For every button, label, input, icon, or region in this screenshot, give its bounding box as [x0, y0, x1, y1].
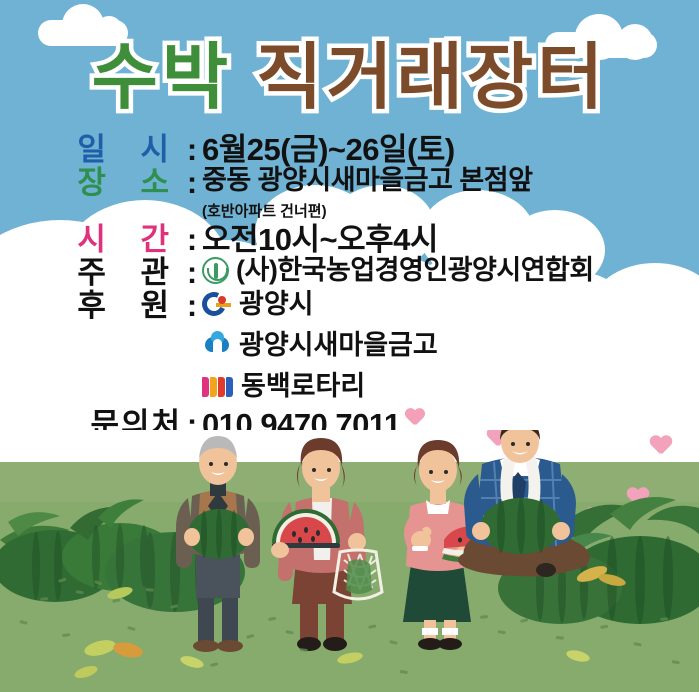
- title-part-market: 직거래장터: [232, 38, 607, 118]
- dongbaek-rotary-logo-icon: [202, 371, 234, 397]
- sponsor-item-1: 광양시새마을금고: [202, 323, 699, 362]
- value-time: 오전10시~오후4시: [202, 224, 438, 255]
- korea-farmers-emblem-icon: [202, 257, 229, 284]
- value-place-note: (호반아파트 건너편): [202, 200, 699, 221]
- label-sponsor: 후 원: [0, 290, 182, 321]
- label-date: 일 시: [0, 134, 182, 165]
- value-host: (사)한국농업경영인광양시연합회: [236, 257, 594, 284]
- sponsor-name-0: 광양시: [239, 291, 314, 318]
- person-woman-net-bag: [271, 438, 382, 651]
- colon-host: :: [182, 257, 202, 288]
- poster-title: 수박 직거래장터: [0, 42, 699, 114]
- row-place: 장 소 : 중동 광양시새마을금고 본점앞: [0, 167, 699, 198]
- title-part-watermelon: 수박: [92, 38, 232, 118]
- colon-date: :: [182, 134, 202, 165]
- row-date: 일 시 : 6월25(금)~26일(토): [0, 134, 699, 165]
- sponsor-name-1: 광양시새마을금고: [239, 323, 438, 362]
- gwangyang-city-logo-icon: [202, 290, 232, 318]
- label-host: 주 관: [0, 257, 182, 288]
- row-sponsor: 후 원 : 광양시: [0, 290, 699, 321]
- label-place: 장 소: [0, 167, 182, 198]
- illustration-watermelon-field: [0, 430, 699, 692]
- heart-icon: [405, 409, 425, 427]
- saemaul-geumgo-logo-icon: [202, 330, 232, 356]
- colon-time: :: [182, 224, 202, 255]
- value-date: 6월25(금)~26일(토): [202, 134, 455, 165]
- label-time: 시 간: [0, 224, 182, 255]
- colon-sponsor: :: [182, 290, 202, 321]
- sponsor-item-2: 동백로타리: [202, 364, 699, 403]
- poster: 수박 직거래장터 일 시 : 6월25(금)~26일(토) 장 소 : 중동 광…: [0, 0, 699, 692]
- field-scene-svg: [0, 430, 699, 692]
- value-place: 중동 광양시새마을금고 본점앞: [202, 167, 532, 194]
- row-host: 주 관 : (사)한국농업경영인광양시연합회: [0, 257, 699, 288]
- row-time: 시 간 : 오전10시~오후4시: [0, 224, 699, 255]
- colon-place: :: [182, 167, 202, 198]
- info-block: 일 시 : 6월25(금)~26일(토) 장 소 : 중동 광양시새마을금고 본…: [0, 134, 699, 442]
- person-elderly-man: [176, 436, 260, 652]
- sponsor-name-2: 동백로타리: [241, 364, 365, 403]
- person-farmer-green-cap: [458, 430, 590, 577]
